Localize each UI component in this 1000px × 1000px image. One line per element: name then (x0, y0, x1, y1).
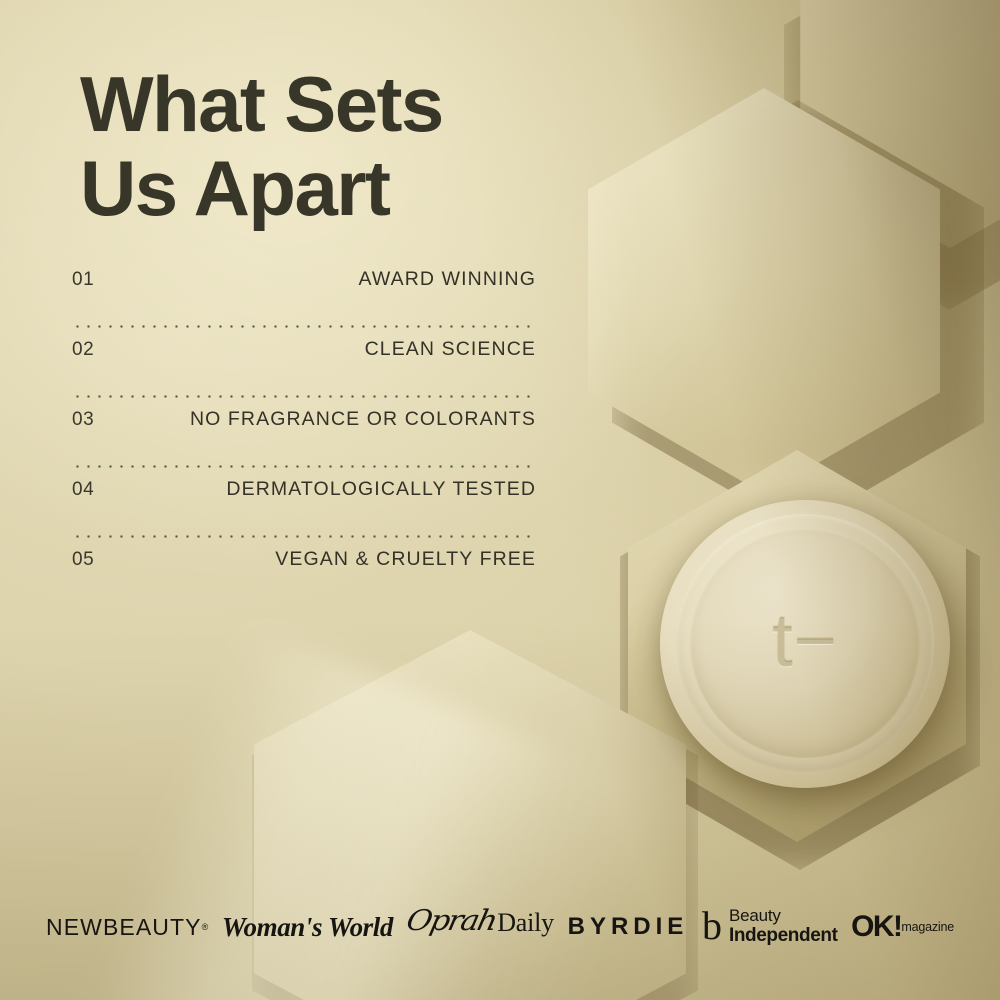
press-logo-oprah-signature: Oprah (403, 904, 499, 937)
press-logo-womans-world: Woman's World (222, 903, 393, 951)
press-logo-beauty-independent: b Beauty Independent (702, 903, 838, 951)
press-logo-ok-main: OK! (851, 912, 901, 942)
list-item-label: NO FRAGRANCE OR COLORANTS (190, 408, 536, 431)
press-logo-oprah-daily-text: Daily (497, 908, 554, 938)
press-logo-row: NEWBEAUTY® Woman's World Oprah Daily BYR… (0, 892, 1000, 962)
list-item-number: 01 (72, 269, 94, 291)
press-logo-beauty-independent-text: Beauty Independent (729, 907, 838, 946)
dotted-divider (72, 315, 536, 338)
dotted-divider (72, 455, 536, 478)
content-panel: What Sets Us Apart 01 AWARD WINNING 02 C… (0, 0, 600, 1000)
dotted-divider (72, 525, 536, 548)
dotted-divider (72, 385, 536, 408)
list-item: 03 NO FRAGRANCE OR COLORANTS (72, 408, 536, 455)
list-item-label: CLEAN SCIENCE (365, 338, 536, 361)
press-logo-newbeauty: NEWBEAUTY® (46, 903, 208, 951)
list-item-label: DERMATOLOGICALLY TESTED (226, 478, 536, 501)
list-item: 04 DERMATOLOGICALLY TESTED (72, 478, 536, 525)
press-logo-beauty-independent-line2: Independent (729, 925, 838, 946)
press-logo-byrdie-text: BYRDIE (568, 913, 689, 941)
press-logo-byrdie: BYRDIE (568, 903, 689, 951)
list-item: 05 VEGAN & CRUELTY FREE (72, 548, 536, 595)
list-item-label: VEGAN & CRUELTY FREE (275, 548, 536, 571)
list-item: 01 AWARD WINNING (72, 268, 536, 315)
beauty-independent-b-mark-icon: b (702, 910, 722, 942)
press-logo-beauty-independent-line1: Beauty (729, 906, 781, 925)
list-item: 02 CLEAN SCIENCE (72, 338, 536, 385)
list-item-number: 04 (72, 479, 94, 501)
feature-list: 01 AWARD WINNING 02 CLEAN SCIENCE 03 NO … (72, 268, 536, 595)
list-item-number: 03 (72, 409, 94, 431)
press-logo-oprah-daily: Oprah Daily (407, 903, 554, 951)
press-logo-newbeauty-text: NEWBEAUTY (46, 914, 202, 941)
press-logo-ok-sub: magazine (901, 921, 954, 934)
trademark-icon: ® (202, 922, 209, 932)
press-logo-ok-magazine: OK! magazine (851, 903, 954, 951)
list-item-number: 05 (72, 549, 94, 571)
list-item-label: AWARD WINNING (358, 268, 536, 291)
press-logo-womans-world-text: Woman's World (222, 912, 393, 943)
list-item-number: 02 (72, 339, 94, 361)
page-title: What Sets Us Apart (80, 62, 443, 230)
